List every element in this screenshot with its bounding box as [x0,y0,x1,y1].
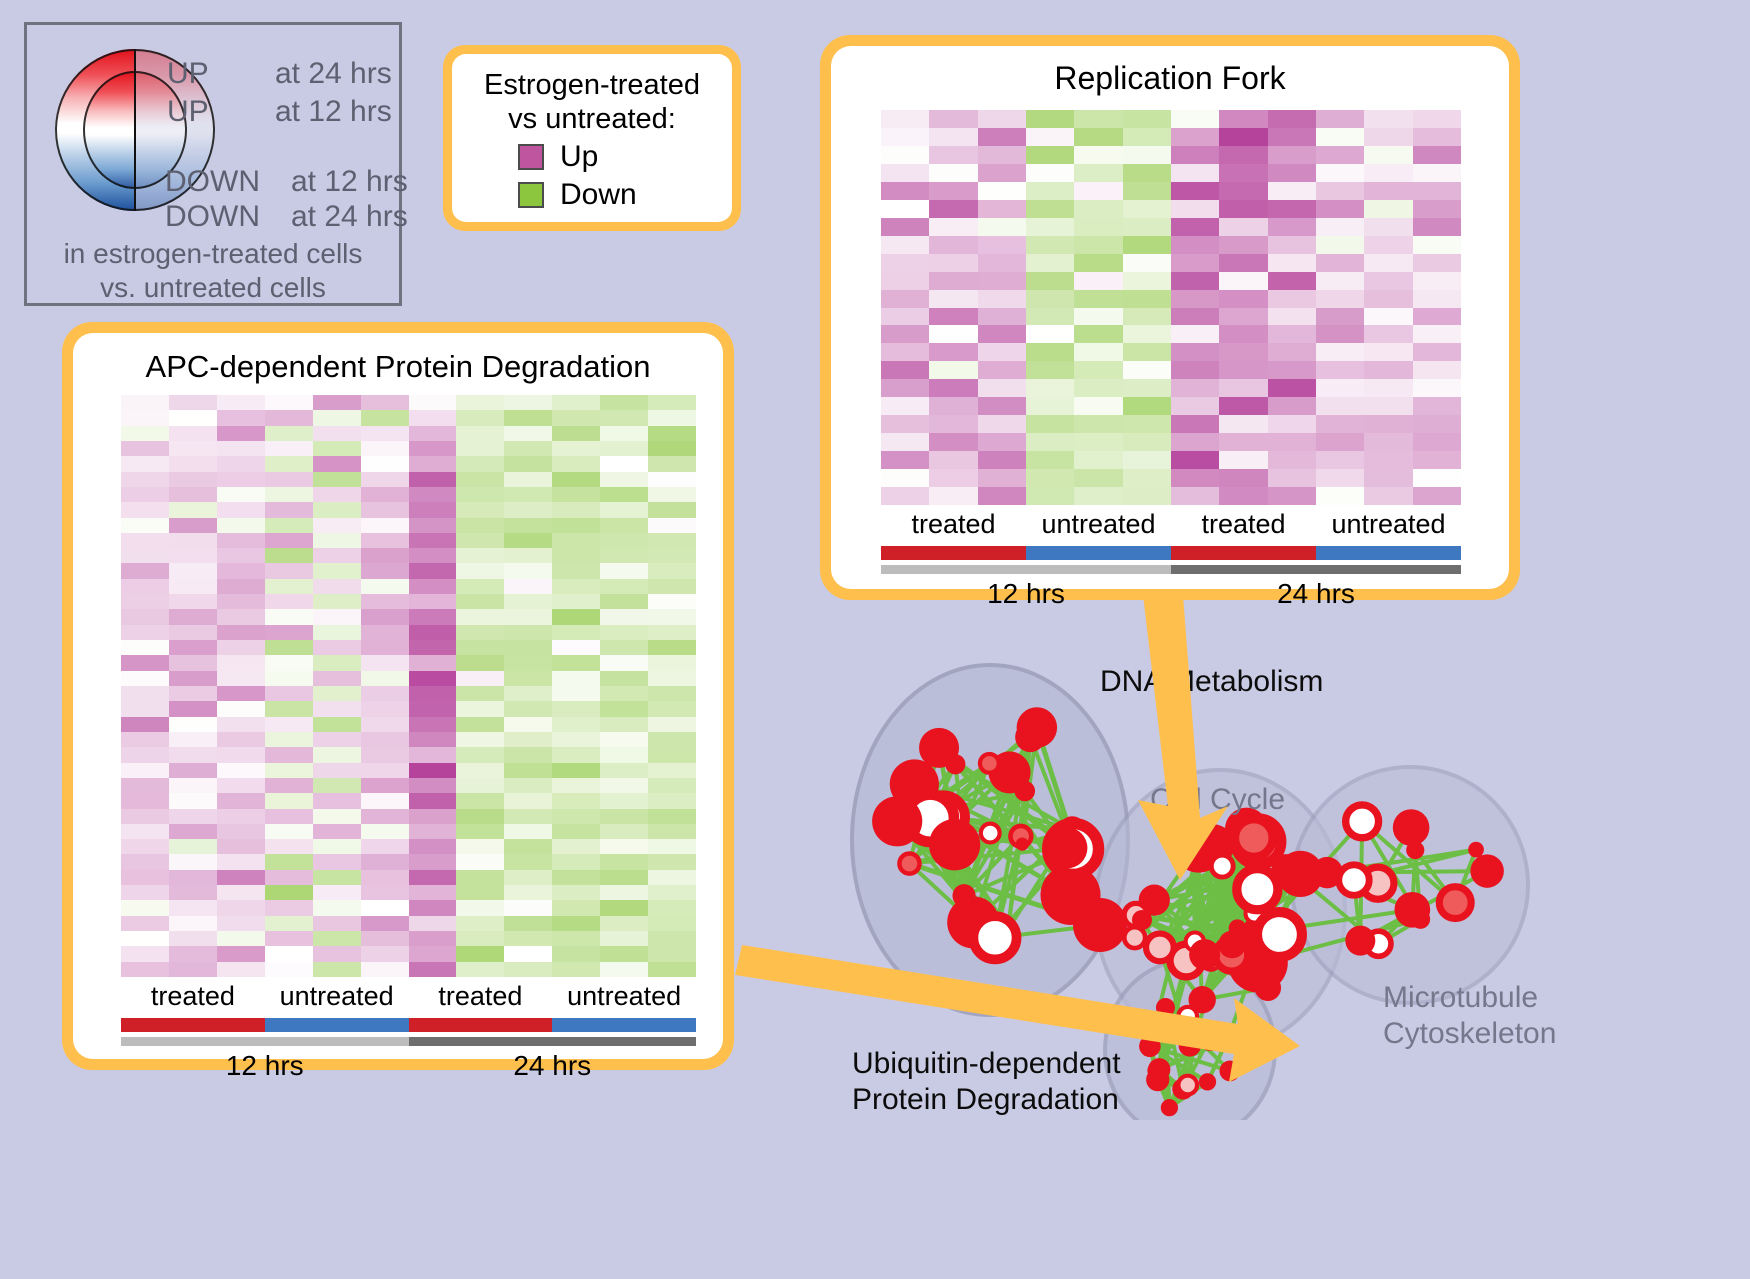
heatmap-cell [361,839,409,854]
heatmap-cell [217,518,265,533]
heatmap-cell [169,456,217,471]
heatmap-cell [121,426,169,441]
heatmap-cell [217,502,265,517]
heatmap-cell [600,456,648,471]
heatmap-cell [409,701,457,716]
heatmap-cell [169,594,217,609]
up-color-swatch [518,144,544,170]
heatmap-cell [1026,218,1074,236]
heatmap-cell [552,809,600,824]
heatmap-cell [1123,146,1171,164]
heatmap-cell [1219,146,1267,164]
heatmap-cell [361,885,409,900]
heatmap-cell [648,793,696,808]
heatmap-cell [600,931,648,946]
heatmap-cell [265,472,313,487]
heatmap-cell [1219,110,1267,128]
heatmap-cell [1219,433,1267,451]
heatmap-cell [456,885,504,900]
heatmap-cell [1268,182,1316,200]
heatmap-cell [881,272,929,290]
rep-time-bar [881,565,1461,574]
heatmap-cell [265,701,313,716]
heatmap-cell [121,962,169,977]
heatmap-cell [313,717,361,732]
heatmap-cell [1074,415,1122,433]
heatmap-cell [265,839,313,854]
heatmap-cell [456,900,504,915]
heatmap-cell [121,717,169,732]
heatmap-cell [881,325,929,343]
heatmap-cell [409,518,457,533]
heatmap-cell [648,502,696,517]
apc-group-labels: treated untreated treated untreated [121,981,696,1012]
heatmap-cell [456,625,504,640]
heatmap-cell [648,609,696,624]
heatmap-cell [169,946,217,961]
heatmap-cell [121,824,169,839]
heatmap-cell [552,640,600,655]
heatmap-cell [648,809,696,824]
heatmap-cell [361,916,409,931]
heatmap-cell [313,793,361,808]
heatmap-cell [409,548,457,563]
heatmap-cell [409,793,457,808]
heatmap-cell [313,563,361,578]
heatmap-cell [1026,469,1074,487]
heatmap-cell [409,870,457,885]
heatmap-cell [456,487,504,502]
heatmap-cell [409,916,457,931]
heatmap-cell [929,343,977,361]
heatmap-cell [1413,433,1461,451]
heatmap-cell [313,609,361,624]
heatmap-cell [1413,272,1461,290]
apc-time-label-12: 12 hrs [121,1050,409,1082]
heatmap-cell [456,686,504,701]
heatmap-cell [169,609,217,624]
heatmap-cell [265,824,313,839]
heatmap-cell [1268,200,1316,218]
heatmap-cell [552,579,600,594]
heatmap-cell [265,686,313,701]
heatmap-cell [648,778,696,793]
heatmap-cell [600,916,648,931]
heatmap-cell [648,640,696,655]
legend-row-down-12: DOWNat 12 hrs [165,165,408,199]
legend-caption: in estrogen-treated cells vs. untreated … [27,237,399,305]
heatmap-cell [121,548,169,563]
heatmap-cell [313,686,361,701]
network-node [1394,892,1430,928]
heatmap-cell [1123,343,1171,361]
heatmap-cell [504,962,552,977]
heatmap-cell [409,778,457,793]
heatmap-cell [169,824,217,839]
heatmap-cell [1364,236,1412,254]
heatmap-cell [1074,487,1122,505]
heatmap-cell [313,395,361,410]
heatmap-cell [1026,433,1074,451]
replication-fork-title: Replication Fork [831,46,1509,97]
heatmap-cell [409,717,457,732]
heatmap-cell [929,272,977,290]
heatmap-cell [504,395,552,410]
heatmap-cell [1219,272,1267,290]
heatmap-cell [929,361,977,379]
heatmap-cell [456,854,504,869]
heatmap-cell [361,395,409,410]
heatmap-cell [648,625,696,640]
heatmap-cell [1413,218,1461,236]
heatmap-cell [217,410,265,425]
heatmap-cell [313,809,361,824]
heatmap-cell [504,809,552,824]
heatmap-cell [456,962,504,977]
network-node [899,854,919,874]
heatmap-cell [361,579,409,594]
heatmap-cell [169,563,217,578]
heatmap-cell [504,671,552,686]
heatmap-cell [504,747,552,762]
heatmap-cell [313,410,361,425]
heatmap-cell [978,236,1026,254]
heatmap-cell [552,502,600,517]
heatmap-cell [265,763,313,778]
heatmap-cell [1123,218,1171,236]
legend-direction-down-24: DOWN [165,200,291,234]
heatmap-cell [978,433,1026,451]
heatmap-cell [169,747,217,762]
heatmap-cell [1364,451,1412,469]
heatmap-cell [265,900,313,915]
heatmap-cell [1268,110,1316,128]
apc-time-bar [121,1037,696,1046]
heatmap-cell [265,870,313,885]
heatmap-cell [265,609,313,624]
heatmap-cell [1364,146,1412,164]
heatmap-cell [552,931,600,946]
heatmap-cell [978,254,1026,272]
heatmap-cell [456,441,504,456]
heatmap-cell [456,548,504,563]
heatmap-cell [456,655,504,670]
heatmap-cell [929,254,977,272]
heatmap-cell [1171,343,1219,361]
heatmap-cell [1316,397,1364,415]
heatmap-cell [456,426,504,441]
heatmap-cell [1026,290,1074,308]
heatmap-cell [1316,451,1364,469]
heatmap-cell [552,824,600,839]
heatmap-cell [217,885,265,900]
heatmap-cell [1268,343,1316,361]
legend-time-up-24: at 24 hrs [275,57,392,91]
updown-legend-title-line2: vs untreated: [462,102,722,136]
heatmap-cell [552,946,600,961]
heatmap-cell [313,778,361,793]
heatmap-cell [1026,415,1074,433]
rep-bar-12hrs [881,565,1171,574]
heatmap-cell [600,809,648,824]
heatmap-cell [456,793,504,808]
network-node [1339,865,1369,895]
heatmap-cell [504,426,552,441]
heatmap-cell [648,395,696,410]
heatmap-cell [361,472,409,487]
network-node [1199,1073,1216,1090]
heatmap-cell [409,946,457,961]
heatmap-cell [504,778,552,793]
network-node [1220,1061,1241,1082]
heatmap-cell [1364,110,1412,128]
heatmap-cell [313,594,361,609]
heatmap-cell [361,824,409,839]
heatmap-cell [456,931,504,946]
heatmap-cell [881,433,929,451]
heatmap-cell [1171,272,1219,290]
heatmap-cell [121,778,169,793]
heatmap-cell [1413,236,1461,254]
heatmap-cell [600,717,648,732]
heatmap-cell [1026,361,1074,379]
heatmap-cell [648,854,696,869]
heatmap-cell [217,870,265,885]
heatmap-cell [169,962,217,977]
heatmap-cell [1364,254,1412,272]
heatmap-cell [169,487,217,502]
heatmap-cell [265,854,313,869]
heatmap-cell [978,290,1026,308]
heatmap-cell [600,502,648,517]
heatmap-cell [361,793,409,808]
heatmap-cell [313,916,361,931]
heatmap-cell [600,793,648,808]
heatmap-cell [552,518,600,533]
heatmap-cell [265,487,313,502]
heatmap-cell [1219,182,1267,200]
heatmap-cell [313,518,361,533]
heatmap-cell [1364,164,1412,182]
heatmap-cell [169,686,217,701]
heatmap-cell [1316,308,1364,326]
heatmap-cell [1171,200,1219,218]
up-label: Up [560,140,598,174]
legend-direction-down-12: DOWN [165,165,291,199]
heatmap-cell [504,472,552,487]
heatmap-cell [361,962,409,977]
heatmap-cell [552,625,600,640]
heatmap-cell [456,502,504,517]
heatmap-cell [409,747,457,762]
heatmap-cell [361,747,409,762]
heatmap-cell [217,426,265,441]
heatmap-cell [1171,325,1219,343]
heatmap-cell [1171,487,1219,505]
heatmap-cell [504,839,552,854]
heatmap-cell [456,594,504,609]
heatmap-cell [881,200,929,218]
heatmap-cell [121,732,169,747]
heatmap-cell [361,701,409,716]
heatmap-cell [1268,325,1316,343]
heatmap-cell [600,778,648,793]
network-node [1211,855,1233,877]
heatmap-cell [648,885,696,900]
heatmap-cell [648,671,696,686]
heatmap-cell [648,946,696,961]
network-node [1014,781,1035,802]
heatmap-cell [1171,290,1219,308]
heatmap-cell [169,885,217,900]
heatmap-cell [504,732,552,747]
network-node [1146,934,1174,962]
heatmap-cell [978,379,1026,397]
rep-time-labels: 12 hrs 24 hrs [881,578,1461,610]
heatmap-cell [648,686,696,701]
legend-time-up-12: at 12 hrs [275,95,392,129]
heatmap-cell [1316,200,1364,218]
network-node [1161,1099,1178,1116]
network-node [1199,1025,1222,1048]
panel-apc-dependent-protein-degradation: APC-dependent Protein Degradation treate… [62,322,734,1070]
heatmap-cell [265,548,313,563]
updown-legend-title-line1: Estrogen-treated [462,68,722,102]
heatmap-cell [648,548,696,563]
legend-item-down: Down [518,178,722,212]
heatmap-cell [1123,254,1171,272]
heatmap-cell [1364,325,1412,343]
heatmap-cell [1219,469,1267,487]
heatmap-cell [978,218,1026,236]
heatmap-cell [313,487,361,502]
heatmap-cell [265,563,313,578]
down-label: Down [560,178,637,212]
down-color-swatch [518,182,544,208]
heatmap-cell [881,182,929,200]
network-node [1124,927,1145,948]
network-node [1016,837,1029,850]
heatmap-cell [1268,451,1316,469]
heatmap-cell [1364,487,1412,505]
apc-bar-untreated-24 [552,1018,696,1032]
heatmap-cell [121,854,169,869]
heatmap-cell [504,456,552,471]
rep-group-labels: treated untreated treated untreated [881,509,1461,540]
heatmap-cell [265,655,313,670]
heatmap-cell [169,809,217,824]
heatmap-cell [978,487,1026,505]
heatmap-cell [504,625,552,640]
heatmap-cell [648,962,696,977]
network-node [1255,975,1281,1001]
heatmap-cell [1074,254,1122,272]
heatmap-cell [929,379,977,397]
heatmap-cell [265,916,313,931]
heatmap-cell [600,655,648,670]
rep-group-label-0: treated [881,509,1026,540]
network-node [1345,926,1375,956]
network-node [1017,707,1057,747]
heatmap-cell [1171,308,1219,326]
heatmap-cell [1123,110,1171,128]
heatmap-cell [929,325,977,343]
heatmap-cell [1268,487,1316,505]
heatmap-cell [1219,487,1267,505]
cluster-label-cell-cycle: Cell Cycle [1150,783,1285,817]
panel-replication-fork: Replication Fork treated untreated treat… [820,35,1520,600]
heatmap-cell [313,870,361,885]
heatmap-cell [265,793,313,808]
heatmap-cell [1171,164,1219,182]
heatmap-cell [409,686,457,701]
heatmap-cell [217,548,265,563]
heatmap-cell [552,686,600,701]
heatmap-cell [121,395,169,410]
heatmap-cell [504,563,552,578]
network-node [1282,860,1309,887]
heatmap-cell [217,778,265,793]
heatmap-cell [313,701,361,716]
heatmap-cell [361,426,409,441]
heatmap-cell [217,854,265,869]
heatmap-cell [504,518,552,533]
heatmap-cell [552,548,600,563]
apc-heatmap [121,395,696,977]
heatmap-cell [361,456,409,471]
heatmap-cell [217,594,265,609]
mt-line2: Cytoskeleton [1383,1016,1556,1052]
heatmap-cell [1316,218,1364,236]
heatmap-cell [169,395,217,410]
heatmap-cell [648,472,696,487]
heatmap-cell [313,456,361,471]
heatmap-cell [456,410,504,425]
heatmap-cell [217,732,265,747]
heatmap-cell [929,164,977,182]
heatmap-cell [456,609,504,624]
network-node [929,819,980,870]
heatmap-cell [361,563,409,578]
heatmap-cell [1268,308,1316,326]
rep-bar-treated-24 [1171,546,1316,560]
heatmap-cell [1364,379,1412,397]
heatmap-cell [1171,128,1219,146]
heatmap-cell [929,397,977,415]
heatmap-cell [881,146,929,164]
heatmap-cell [313,900,361,915]
heatmap-cell [169,778,217,793]
legend-row-up-12: UPat 12 hrs [167,95,392,129]
apc-bar-treated-12 [121,1018,265,1032]
heatmap-cell [600,594,648,609]
heatmap-cell [929,146,977,164]
heatmap-cell [361,609,409,624]
heatmap-cell [552,410,600,425]
heatmap-cell [217,763,265,778]
heatmap-cell [409,809,457,824]
heatmap-cell [1123,325,1171,343]
heatmap-cell [600,487,648,502]
heatmap-cell [552,533,600,548]
heatmap-cell [1268,415,1316,433]
heatmap-cell [456,395,504,410]
heatmap-cell [1413,397,1461,415]
heatmap-cell [456,870,504,885]
apc-bar-treated-24 [409,1018,553,1032]
heatmap-cell [1026,200,1074,218]
heatmap-cell [217,717,265,732]
